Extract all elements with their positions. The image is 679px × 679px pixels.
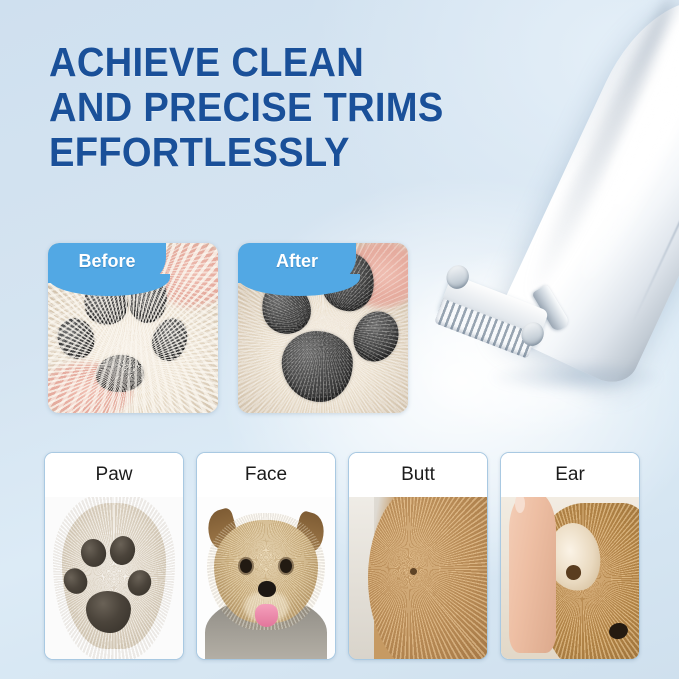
thumb-nail [515,497,525,513]
product-trimmer [432,0,679,438]
before-badge-label: Before [78,251,135,272]
before-after-row: Before After [48,243,408,413]
usage-card-ear: Ear [500,452,640,660]
usage-card-photo-ear [501,497,639,659]
headline-line-2: AND PRECISE TRIMS [49,85,486,130]
usage-card-label: Butt [349,453,487,497]
paw-pad [86,591,130,633]
usage-card-photo-face [197,497,335,659]
usage-cards-row: Paw Face [44,452,640,660]
before-card: Before [48,243,218,413]
dog-tongue [255,604,278,627]
usage-card-butt: Butt [348,452,488,660]
usage-card-label: Paw [45,453,183,497]
after-badge: After [238,243,356,283]
dog-rump [368,497,487,659]
headline-line-1: ACHIEVE CLEAN [49,40,486,85]
headline-line-3: EFFORTLESSLY [49,130,486,175]
usage-card-label: Face [197,453,335,497]
human-hand [509,497,556,653]
promo-image: ACHIEVE CLEAN AND PRECISE TRIMS EFFORTLE… [0,0,679,679]
trimmer-highlight [568,21,679,286]
dog-nose [258,581,276,597]
usage-card-photo-paw [45,497,183,659]
usage-card-label: Ear [501,453,639,497]
before-badge: Before [48,243,166,283]
usage-card-face: Face [196,452,336,660]
after-badge-label: After [276,251,318,272]
product-shadow [488,360,664,394]
page-title: ACHIEVE CLEAN AND PRECISE TRIMS EFFORTLE… [49,40,486,175]
usage-card-paw: Paw [44,452,184,660]
usage-card-photo-butt [349,497,487,659]
after-card: After [238,243,408,413]
dog-rump-marking [410,568,417,574]
